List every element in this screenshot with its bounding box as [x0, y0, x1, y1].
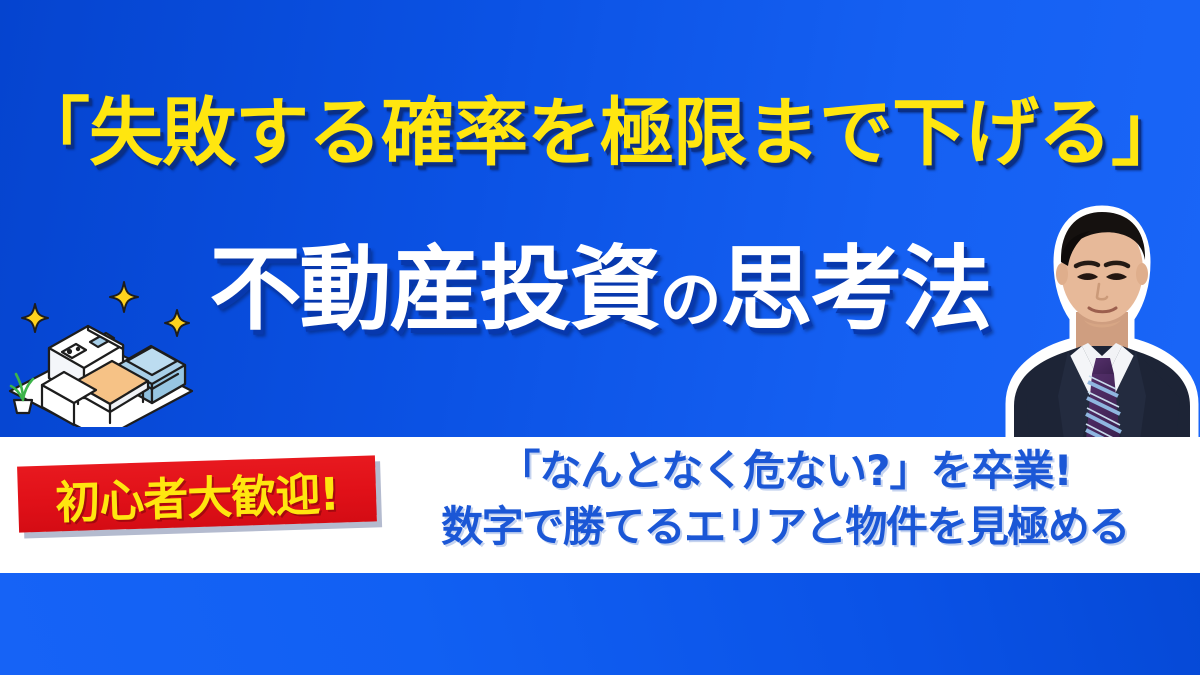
tagline-line-1: 「なんとなく危ない?」を卒業! — [370, 443, 1200, 499]
page-title: 「失敗する確率を極限まで下げる」 — [0, 96, 1200, 170]
background-gradient-lower — [0, 573, 1200, 675]
subtitle-particle: の — [659, 263, 720, 336]
badge-label: 初心者大歓迎! — [54, 457, 339, 531]
presenter-photo — [1004, 200, 1200, 440]
bottom-tagline: 「なんとなく危ない?」を卒業! 数字で勝てるエリアと物件を見極める — [370, 443, 1200, 555]
promo-banner: 「失敗する確率を極限まで下げる」 — [0, 0, 1200, 675]
beginners-welcome-badge: 初心者大歓迎! — [17, 455, 377, 532]
tagline-line-2: 数字で勝てるエリアと物件を見極める — [370, 499, 1200, 555]
subtitle-part-2: 思考法 — [721, 236, 991, 343]
subtitle-part-1: 不動産投資 — [209, 236, 659, 343]
